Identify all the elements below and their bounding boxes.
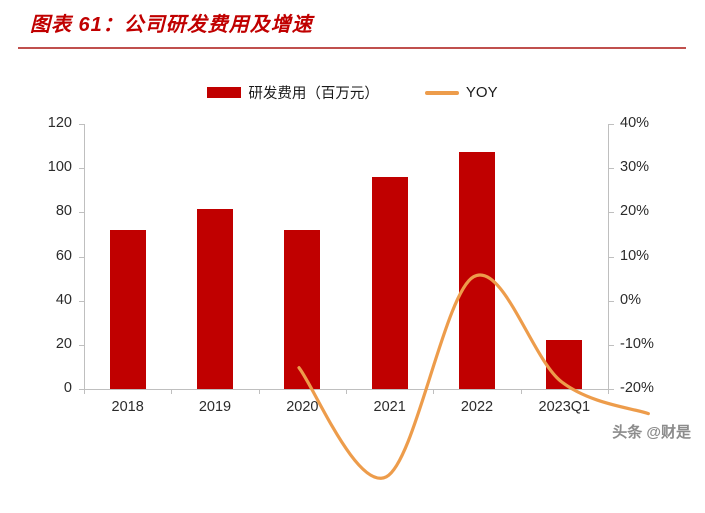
category-axis-tick: [84, 389, 85, 394]
legend-item-yoy: YOY: [425, 84, 498, 101]
line-swatch-icon: [425, 91, 459, 95]
bar-swatch-icon: [207, 87, 241, 98]
category-axis-tick: [346, 389, 347, 394]
legend-label-yoy: YOY: [466, 84, 498, 101]
right-axis-tick-label: 0%: [620, 293, 641, 308]
bar-2022: [459, 152, 495, 389]
yoy-line-series: [168, 248, 692, 513]
left-axis-tick-label: 80: [56, 204, 72, 219]
watermark: 头条 @财是: [612, 421, 691, 442]
category-axis-tick-label: 2019: [171, 399, 258, 415]
right-axis-tick-label: 30%: [620, 160, 649, 175]
category-axis-tick: [608, 389, 609, 394]
right-axis-tick: [609, 124, 614, 125]
right-axis-tick: [609, 212, 614, 213]
category-axis-tick: [259, 389, 260, 394]
left-axis-tick-label: 60: [56, 249, 72, 264]
right-axis-tick-label: 10%: [620, 249, 649, 264]
category-axis-tick: [171, 389, 172, 394]
bar-2021: [372, 177, 408, 389]
bar-2020: [284, 230, 320, 389]
category-axis-tick: [521, 389, 522, 394]
right-axis-tick: [609, 257, 614, 258]
category-axis-tick-label: 2018: [84, 399, 171, 415]
right-axis-tick-label: 40%: [620, 116, 649, 131]
right-axis-tick-label: -10%: [620, 337, 654, 352]
title-divider: [18, 47, 686, 49]
chart-legend: 研发费用（百万元） YOY: [0, 82, 705, 103]
bar-2019: [197, 209, 233, 389]
left-axis-tick-label: 100: [48, 160, 72, 175]
right-axis-tick-label: 20%: [620, 204, 649, 219]
left-axis-tick-label: 40: [56, 293, 72, 308]
left-axis-tick-label: 0: [64, 381, 72, 396]
left-axis-tick-label: 20: [56, 337, 72, 352]
right-axis-tick: [609, 301, 614, 302]
category-axis-tick-label: 2023Q1: [521, 399, 608, 415]
category-axis-tick-label: 2021: [346, 399, 433, 415]
category-axis-tick: [433, 389, 434, 394]
left-axis-tick-label: 120: [48, 116, 72, 131]
right-axis-tick-label: -20%: [620, 381, 654, 396]
bar-2023Q1: [546, 340, 582, 389]
plot-area: [84, 124, 608, 389]
category-axis-tick-label: 2022: [433, 399, 520, 415]
right-axis-tick: [609, 168, 614, 169]
legend-item-expense: 研发费用（百万元）: [207, 82, 379, 103]
category-axis-tick-label: 2020: [259, 399, 346, 415]
right-axis-tick: [609, 389, 614, 390]
toutiao-watermark-icon: 头条 @财是: [612, 421, 691, 442]
bar-2018: [110, 230, 146, 389]
page-title: 图表 61：公司研发费用及增速: [30, 8, 313, 37]
legend-label-expense: 研发费用（百万元）: [248, 82, 379, 103]
right-axis-tick: [609, 345, 614, 346]
